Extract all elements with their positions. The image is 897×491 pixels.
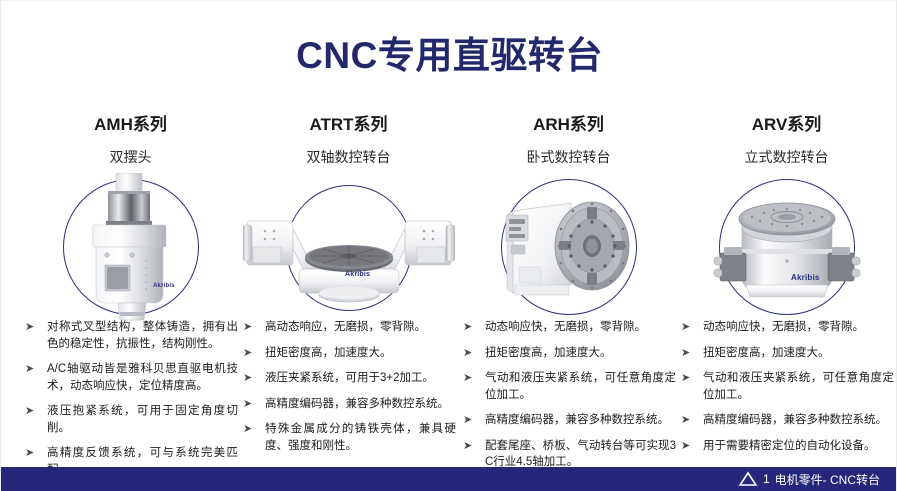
bullet-arrow-icon: ➤ xyxy=(25,403,34,420)
list-item: ➤ 用于需要精密定位的自动化设备。 xyxy=(679,438,894,455)
bullet-arrow-icon: ➤ xyxy=(243,396,252,413)
product-figure-atrt: Akribis xyxy=(241,179,456,319)
product-column-atrt: ATRT系列 双轴数控转台 xyxy=(241,113,456,319)
bullet-list-arh: ➤ 动态响应快，无磨损，零背隙。 ➤ 扭矩密度高，加速度大。 ➤ 气动和液压夹紧… xyxy=(461,319,676,471)
product-figure-arh xyxy=(461,179,676,319)
bullet-arrow-icon: ➤ xyxy=(243,421,252,438)
list-item: ➤ 特殊金属成分的铸铁壳体，兼具硬度、强度和刚性。 xyxy=(241,421,456,454)
product-subtitle-arh: 卧式数控转台 xyxy=(461,147,676,167)
product-column-arh: ARH系列 卧式数控转台 xyxy=(461,113,676,319)
bullet-arrow-icon: ➤ xyxy=(681,438,690,455)
list-item: ➤ 高精度编码器，兼容多种数控系统。 xyxy=(461,412,676,429)
footer-page-number: 1 xyxy=(763,472,770,486)
list-item: ➤ 动态响应快，无磨损，零背隙。 xyxy=(679,319,894,336)
brand-label: Akribis xyxy=(345,271,370,278)
bullet-arrow-icon: ➤ xyxy=(463,345,472,362)
list-item: ➤ 扭矩密度高，加速度大。 xyxy=(679,345,894,362)
list-item: ➤ 扭矩密度高，加速度大。 xyxy=(461,345,676,362)
product-subtitle-arv: 立式数控转台 xyxy=(679,147,894,167)
list-item: ➤ 液压夹紧系统，可用于3+2加工。 xyxy=(241,370,456,387)
list-item: ➤ 高精度编码器，兼容多种数控系统。 xyxy=(241,396,456,413)
product-figure-arv: Akribis xyxy=(679,179,894,319)
bullet-list-arv: ➤ 动态响应快，无磨损，零背隙。 ➤ 扭矩密度高，加速度大。 ➤ 气动和液压夹紧… xyxy=(679,319,894,454)
bullet-arrow-icon: ➤ xyxy=(25,445,34,462)
bullet-list-amh: ➤ 对称式叉型结构，整体铸造，拥有出色的稳定性，抗振性，结构刚性。 ➤ A/C轴… xyxy=(23,319,238,478)
product-image-atrt xyxy=(243,203,455,313)
list-item: ➤ 对称式叉型结构，整体铸造，拥有出色的稳定性，抗振性，结构刚性。 xyxy=(23,319,238,352)
list-item: ➤ 液压抱紧系统，可用于固定角度切削。 xyxy=(23,403,238,436)
bullet-arrow-icon: ➤ xyxy=(463,319,472,336)
bullet-arrow-icon: ➤ xyxy=(243,370,252,387)
brand-label: Akribis xyxy=(791,273,820,282)
product-column-amh: AMH系列 双摆头 xyxy=(23,113,238,319)
triangle-logo-icon xyxy=(738,471,758,487)
bullet-list-atrt: ➤ 高动态响应，无磨损，零背隙。 ➤ 扭矩密度高，加速度大。 ➤ 液压夹紧系统，… xyxy=(241,319,456,454)
footer-bar: 1 电机零件- CNC转台 xyxy=(1,467,897,491)
product-column-arv: ARV系列 立式数控转台 xyxy=(679,113,894,319)
bullet-arrow-icon: ➤ xyxy=(681,370,690,387)
page-title: CNC专用直驱转台 xyxy=(1,33,897,79)
bullet-arrow-icon: ➤ xyxy=(681,345,690,362)
list-item: ➤ 高动态响应，无磨损，零背隙。 xyxy=(241,319,456,336)
product-image-arv xyxy=(712,191,862,309)
bullet-arrow-icon: ➤ xyxy=(463,412,472,429)
list-item: ➤ 高精度编码器，兼容多种数控系统。 xyxy=(679,412,894,429)
bullet-arrow-icon: ➤ xyxy=(25,361,34,378)
list-item: ➤ 配套尾座、桥板、气动转台等可实现3C行业4.5轴加工。 xyxy=(461,438,676,471)
product-subtitle-atrt: 双轴数控转台 xyxy=(241,147,456,167)
slide-canvas: CNC专用直驱转台 AMH系列 双摆头 xyxy=(0,0,897,491)
product-subtitle-amh: 双摆头 xyxy=(23,147,238,167)
brand-label: Akribis xyxy=(153,283,175,289)
product-image-amh xyxy=(66,173,196,323)
bullet-arrow-icon: ➤ xyxy=(463,370,472,387)
bullet-arrow-icon: ➤ xyxy=(463,438,472,455)
footer-label: 电机零件- CNC转台 xyxy=(775,471,880,488)
product-title-amh: AMH系列 xyxy=(23,113,238,137)
bullet-arrow-icon: ➤ xyxy=(243,345,252,362)
list-item: ➤ 气动和液压夹紧系统，可任意角度定位加工。 xyxy=(461,370,676,403)
product-title-arv: ARV系列 xyxy=(679,113,894,137)
bullet-arrow-icon: ➤ xyxy=(681,319,690,336)
list-item: ➤ 动态响应快，无磨损，零背隙。 xyxy=(461,319,676,336)
product-title-atrt: ATRT系列 xyxy=(241,113,456,137)
bullet-arrow-icon: ➤ xyxy=(25,319,34,336)
list-item: ➤ A/C轴驱动皆是雅科贝思直驱电机技术，动态响应快，定位精度高。 xyxy=(23,361,238,394)
list-item: ➤ 气动和液压夹紧系统，可任意角度定位加工。 xyxy=(679,370,894,403)
product-figure-amh: Akribis xyxy=(23,179,238,319)
bullet-arrow-icon: ➤ xyxy=(681,412,690,429)
product-image-arh xyxy=(499,189,639,309)
product-title-arh: ARH系列 xyxy=(461,113,676,137)
list-item: ➤ 扭矩密度高，加速度大。 xyxy=(241,345,456,362)
bullet-arrow-icon: ➤ xyxy=(243,319,252,336)
footer-content: 1 电机零件- CNC转台 xyxy=(738,467,880,491)
